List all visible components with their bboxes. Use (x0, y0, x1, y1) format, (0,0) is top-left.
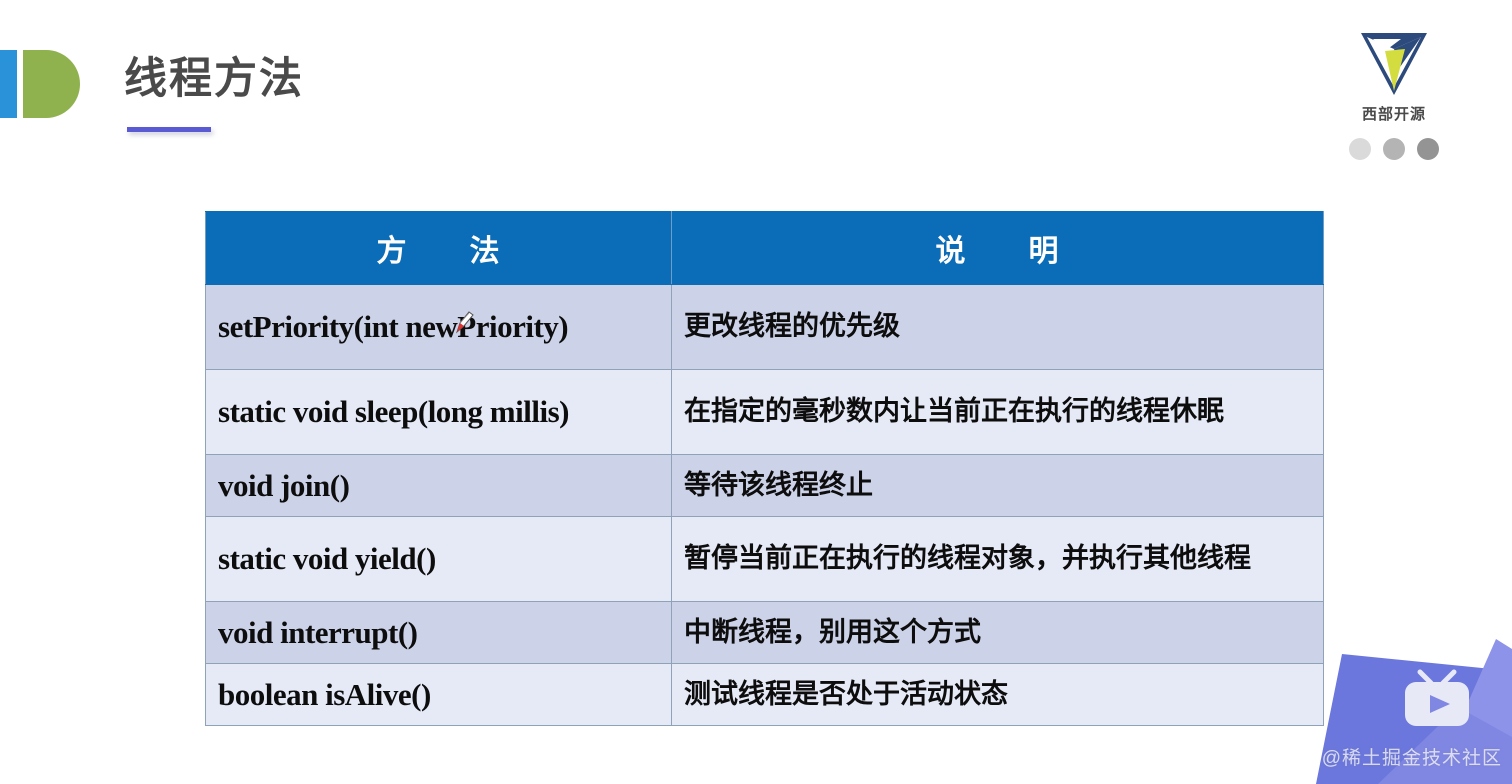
cell-description: 中断线程，别用这个方式 (672, 602, 1324, 664)
table-row: void join()等待该线程终止 (206, 455, 1324, 517)
brand-dot-3 (1417, 138, 1439, 160)
thread-methods-table: 方 法 说 明 setPriority(int newPriority)更改线程… (205, 211, 1324, 726)
cell-description: 等待该线程终止 (672, 455, 1324, 517)
table-row: static void yield()暂停当前正在执行的线程对象，并执行其他线程 (206, 517, 1324, 602)
table-row: static void sleep(long millis)在指定的毫秒数内让当… (206, 370, 1324, 455)
brand-dot-2 (1383, 138, 1405, 160)
table-header-row: 方 法 说 明 (206, 212, 1324, 285)
brand-dot-1 (1349, 138, 1371, 160)
cell-description: 在指定的毫秒数内让当前正在执行的线程休眠 (672, 370, 1324, 455)
cell-description: 测试线程是否处于活动状态 (672, 664, 1324, 726)
table-row: boolean isAlive()测试线程是否处于活动状态 (206, 664, 1324, 726)
triangle-arrow-logo-icon (1355, 25, 1433, 101)
cell-method: static void yield() (206, 517, 672, 602)
table-body: setPriority(int newPriority)更改线程的优先级stat… (206, 285, 1324, 726)
cell-method: boolean isAlive() (206, 664, 672, 726)
bilibili-tv-icon (1400, 668, 1474, 732)
accent-bar-blue (0, 50, 17, 118)
accent-shape-green (23, 50, 80, 118)
cell-method: setPriority(int newPriority) (206, 285, 672, 370)
table-row: void interrupt()中断线程，别用这个方式 (206, 602, 1324, 664)
cell-method: void join() (206, 455, 672, 517)
column-header-description: 说 明 (672, 212, 1324, 285)
cell-method: void interrupt() (206, 602, 672, 664)
column-header-method: 方 法 (206, 212, 672, 285)
cell-description: 暂停当前正在执行的线程对象，并执行其他线程 (672, 517, 1324, 602)
brand-dots (1334, 138, 1454, 160)
cell-method: static void sleep(long millis) (206, 370, 672, 455)
watermark-text: @稀土掘金技术社区 (1322, 743, 1502, 770)
cell-description: 更改线程的优先级 (672, 285, 1324, 370)
brand-logo: 西部开源 (1334, 25, 1454, 160)
brand-name: 西部开源 (1334, 103, 1454, 124)
table-row: setPriority(int newPriority)更改线程的优先级 (206, 285, 1324, 370)
slide-accent-mark (0, 50, 82, 118)
title-underline (127, 127, 211, 132)
page-title: 线程方法 (124, 56, 304, 103)
